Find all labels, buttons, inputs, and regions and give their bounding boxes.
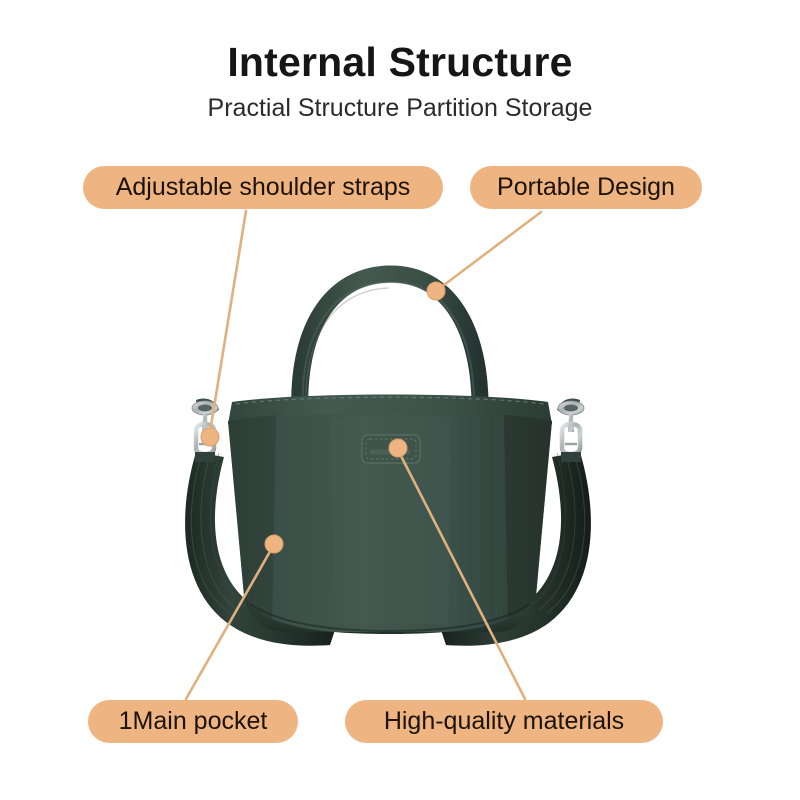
callout-adjustable-shoulder-straps[interactable]: Adjustable shoulder straps (83, 166, 443, 209)
anchor-dot-bag-body-left (265, 535, 283, 553)
callout-high-quality-materials[interactable]: High-quality materials (345, 700, 663, 743)
anchor-dot-left-strap-clasp (201, 428, 219, 446)
infographic-canvas: Internal Structure Practial Structure Pa… (0, 0, 800, 800)
leader-line-portable-design (440, 212, 541, 288)
callout-leader-lines (0, 0, 800, 800)
leader-line-high-quality-materials (399, 452, 525, 699)
leader-line-adjustable-shoulder-straps (210, 211, 246, 432)
callout-main-pocket[interactable]: 1Main pocket (88, 700, 298, 743)
callout-portable-design[interactable]: Portable Design (470, 166, 702, 209)
leader-line-main-pocket (186, 548, 272, 699)
anchor-dot-logo-patch (389, 439, 407, 457)
anchor-dot-top-handle (427, 282, 445, 300)
